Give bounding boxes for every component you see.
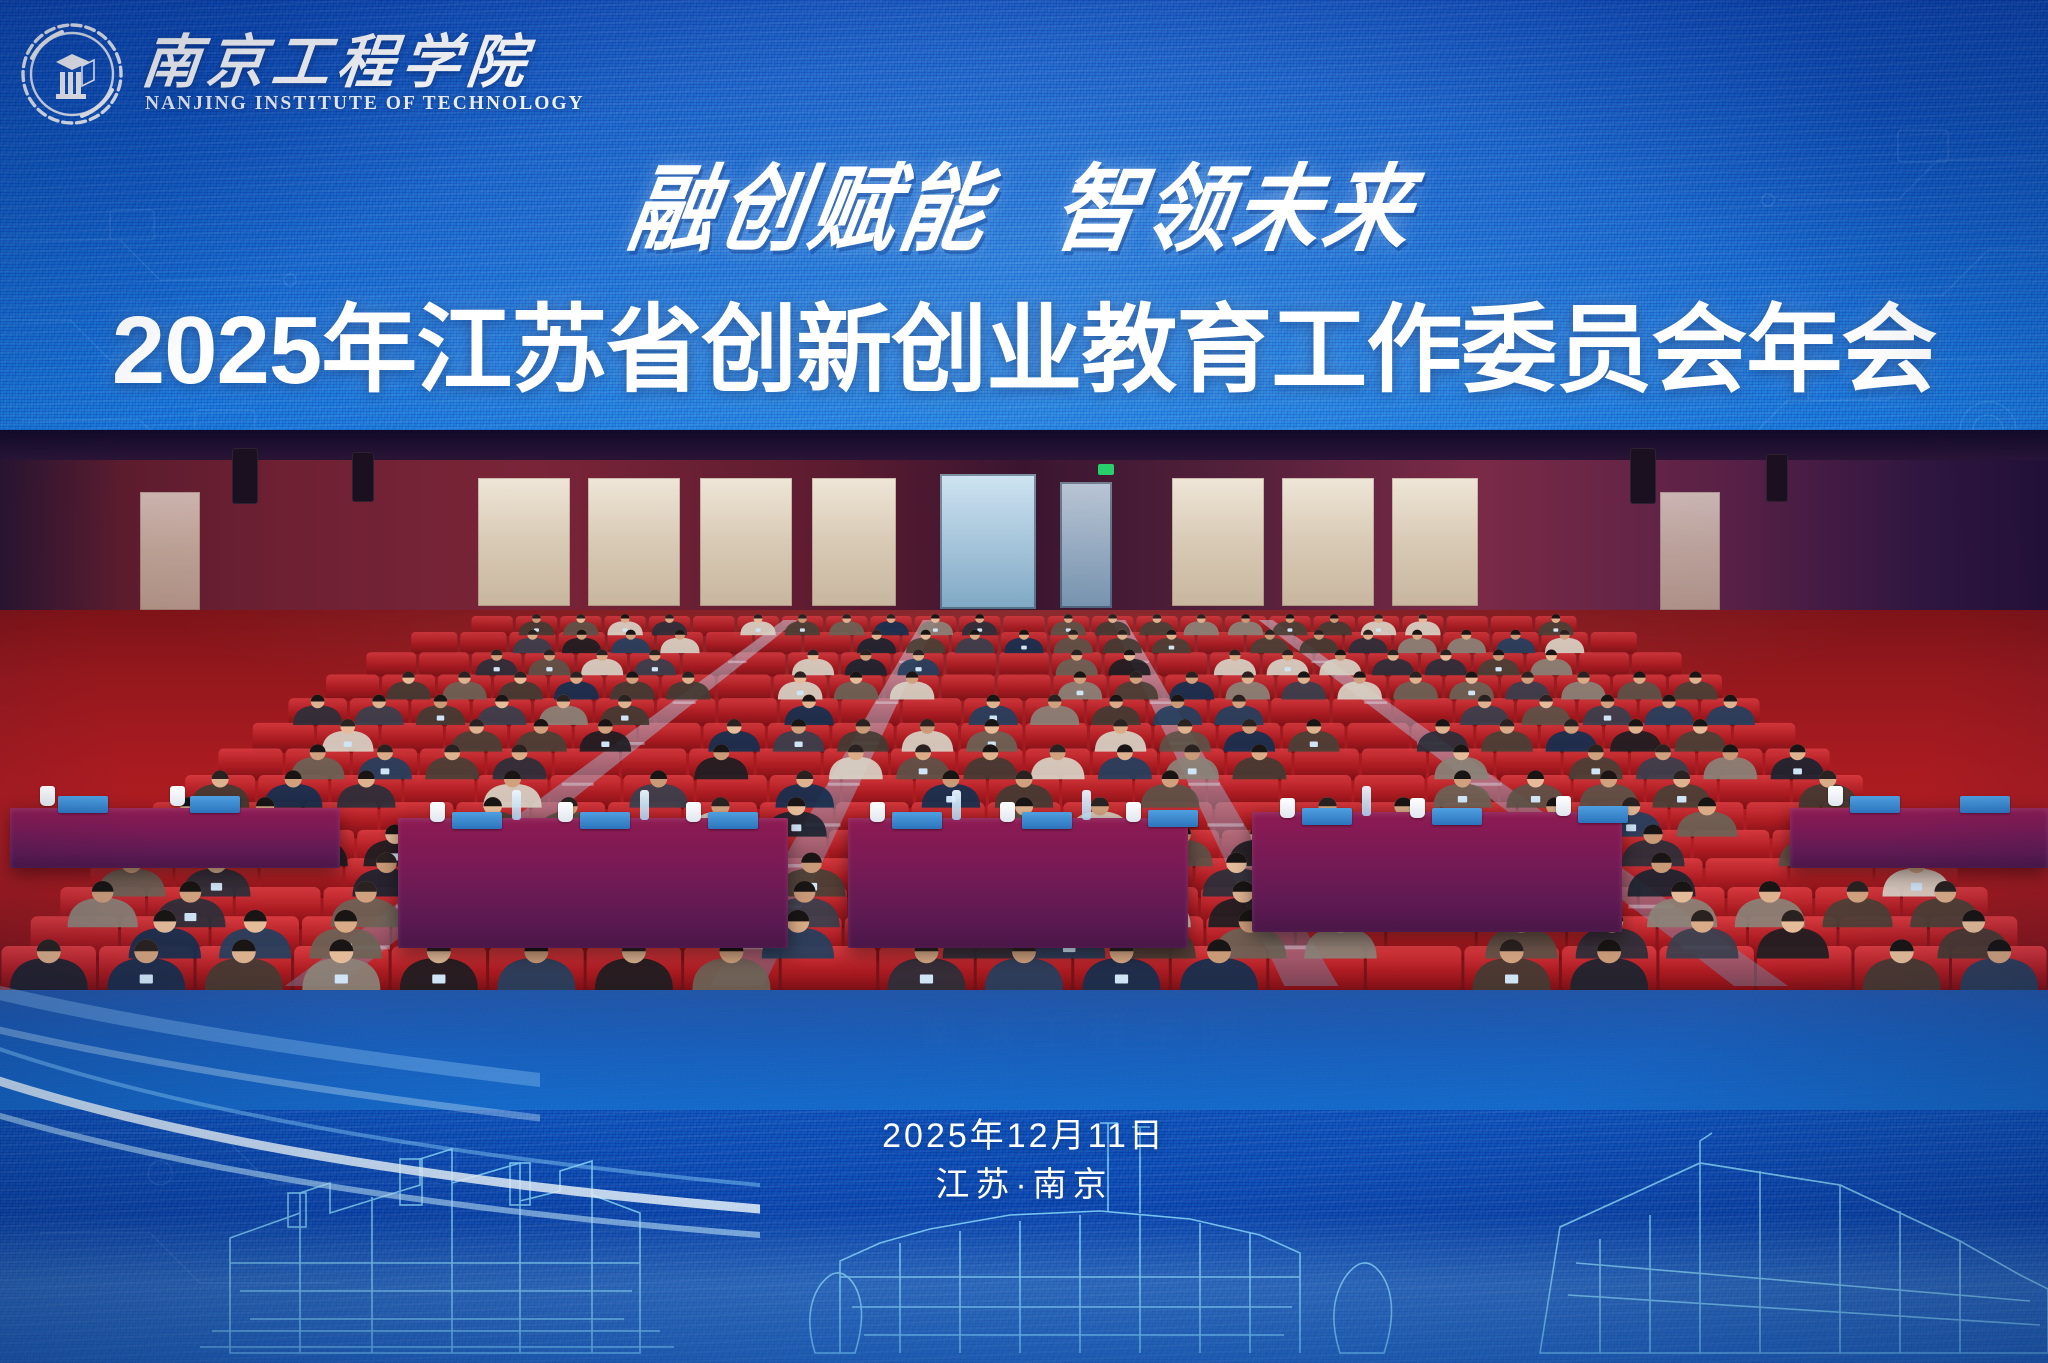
tea-cup bbox=[1126, 802, 1141, 822]
name-plate bbox=[1850, 796, 1900, 813]
tea-cup bbox=[170, 786, 185, 806]
tea-cup bbox=[1556, 796, 1571, 816]
vip-table-2 bbox=[398, 818, 788, 948]
slogan-part-2: 智领未来 bbox=[1046, 132, 1428, 270]
auditorium-scene bbox=[0, 430, 2048, 990]
auditorium-door bbox=[940, 474, 1036, 609]
event-slogan: 融创赋能 智领未来 bbox=[0, 138, 2048, 263]
event-place: 江苏·南京 bbox=[0, 1161, 2048, 1210]
water-bottle bbox=[512, 790, 521, 820]
name-plate bbox=[1432, 808, 1482, 825]
vip-table-3 bbox=[848, 818, 1188, 948]
name-plate bbox=[892, 812, 942, 829]
event-info: 2025年12月11日 江苏·南京 bbox=[0, 1112, 2048, 1211]
tea-cup bbox=[430, 802, 445, 822]
vip-table-1 bbox=[10, 808, 340, 868]
name-plate bbox=[1022, 812, 1072, 829]
tea-cup bbox=[1410, 798, 1425, 818]
name-plate bbox=[1148, 810, 1198, 827]
logo-wordmark: 南京工程学院 NANJING INSTITUTE OF TECHNOLOGY bbox=[142, 34, 585, 114]
water-bottle bbox=[1082, 790, 1091, 820]
headline-text: 2025年江苏省创新创业教育工作委员会年会 bbox=[112, 297, 1937, 404]
name-plate bbox=[580, 812, 630, 829]
name-plate bbox=[1578, 806, 1628, 823]
tea-cup bbox=[1000, 802, 1015, 822]
name-plate bbox=[190, 796, 240, 813]
water-bottle bbox=[952, 790, 961, 820]
tea-cup bbox=[558, 802, 573, 822]
name-plate bbox=[708, 812, 758, 829]
water-bottle bbox=[1362, 786, 1371, 816]
conference-backdrop-screenshot: 南京工程学院 NANJING INSTITUTE OF TECHNOLOGY 融… bbox=[0, 0, 2048, 1363]
vip-table-4 bbox=[1252, 812, 1622, 932]
tea-cup bbox=[870, 802, 885, 822]
university-logo: 南京工程学院 NANJING INSTITUTE OF TECHNOLOGY bbox=[16, 18, 585, 130]
name-plate bbox=[452, 812, 502, 829]
slogan-part-1: 融创赋能 bbox=[621, 132, 1003, 270]
tea-cup bbox=[1828, 786, 1843, 806]
name-plate bbox=[1960, 796, 2010, 813]
auditorium-floor bbox=[0, 990, 2048, 1110]
logo-name-en: NANJING INSTITUTE OF TECHNOLOGY bbox=[145, 94, 585, 114]
tea-cup bbox=[686, 802, 701, 822]
exit-sign-icon bbox=[1098, 464, 1114, 475]
name-plate bbox=[1302, 808, 1352, 825]
university-seal-icon bbox=[16, 18, 128, 130]
tea-cup bbox=[1280, 798, 1295, 818]
logo-name-cn: 南京工程学院 bbox=[139, 34, 588, 92]
auditorium-ceiling bbox=[0, 430, 2048, 460]
name-plate bbox=[58, 796, 108, 813]
event-headline: 2025年江苏省创新创业教育工作委员会年会 bbox=[0, 272, 2048, 411]
water-bottle bbox=[640, 790, 649, 820]
auditorium-door-side bbox=[1060, 482, 1112, 608]
tea-cup bbox=[40, 786, 55, 806]
vip-table-5 bbox=[1790, 808, 2048, 868]
event-date: 2025年12月11日 bbox=[0, 1112, 2048, 1161]
